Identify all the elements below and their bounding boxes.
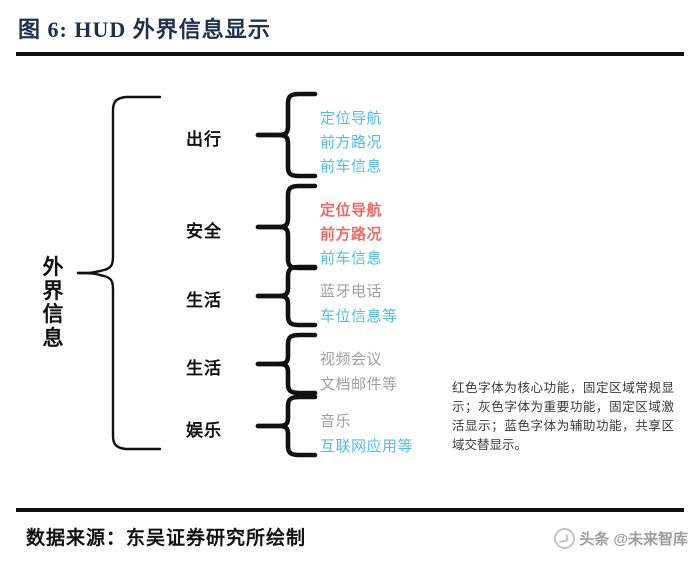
watermark-text: 头条 @未来智库 — [579, 528, 688, 549]
leaf-entertainment-music: 音乐 — [320, 410, 351, 431]
leaf-safety-road-ahead: 前方路况 — [320, 223, 382, 244]
root-char-2: 界 — [36, 280, 70, 304]
branch-label-life-2: 生活 — [186, 354, 222, 379]
figure-header: 图 6: HUD 外界信息显示 — [0, 0, 700, 58]
root-char-1: 外 — [36, 256, 70, 280]
leaf-travel-road-ahead: 前方路况 — [320, 131, 382, 152]
leaf-safety-navigation: 定位导航 — [320, 199, 382, 220]
root-node-label: 外 界 信 息 — [36, 256, 70, 350]
branch-label-travel: 出行 — [186, 125, 222, 150]
leaf-travel-navigation: 定位导航 — [320, 107, 382, 128]
watermark: 头条 @未来智库 — [554, 528, 688, 549]
watermark-logo-icon — [554, 528, 575, 549]
header-divider — [16, 52, 684, 56]
leaf-safety-vehicle-info: 前车信息 — [320, 247, 382, 268]
leaf-entertainment-internet: 互联网应用等 — [320, 435, 413, 456]
root-char-4: 息 — [36, 327, 70, 351]
leaf-life1-parking-info: 车位信息等 — [320, 305, 398, 326]
source-caption: 数据来源：东吴证券研究所绘制 — [26, 523, 306, 550]
leaf-life2-video-meeting: 视频会议 — [320, 348, 382, 369]
page-title: 图 6: HUD 外界信息显示 — [18, 12, 271, 44]
leaf-life2-docs-email: 文档邮件等 — [320, 373, 398, 394]
diagram-canvas: 外 界 信 息 出行 安全 生活 生活 娱乐 定位导航 前方路况 前车信息 定位… — [0, 58, 700, 508]
legend-note: 红色字体为核心功能，固定区域常规显示；灰色字体为重要功能，固定区域激活显示；蓝色… — [452, 379, 674, 455]
branch-label-life-1: 生活 — [186, 286, 222, 311]
leaf-life1-bluetooth-call: 蓝牙电话 — [320, 280, 382, 301]
leaf-travel-vehicle-info: 前车信息 — [320, 155, 382, 176]
root-char-3: 信 — [36, 303, 70, 327]
footer-divider — [16, 508, 684, 512]
branch-label-entertainment: 娱乐 — [186, 416, 222, 441]
branch-label-safety: 安全 — [186, 217, 222, 242]
